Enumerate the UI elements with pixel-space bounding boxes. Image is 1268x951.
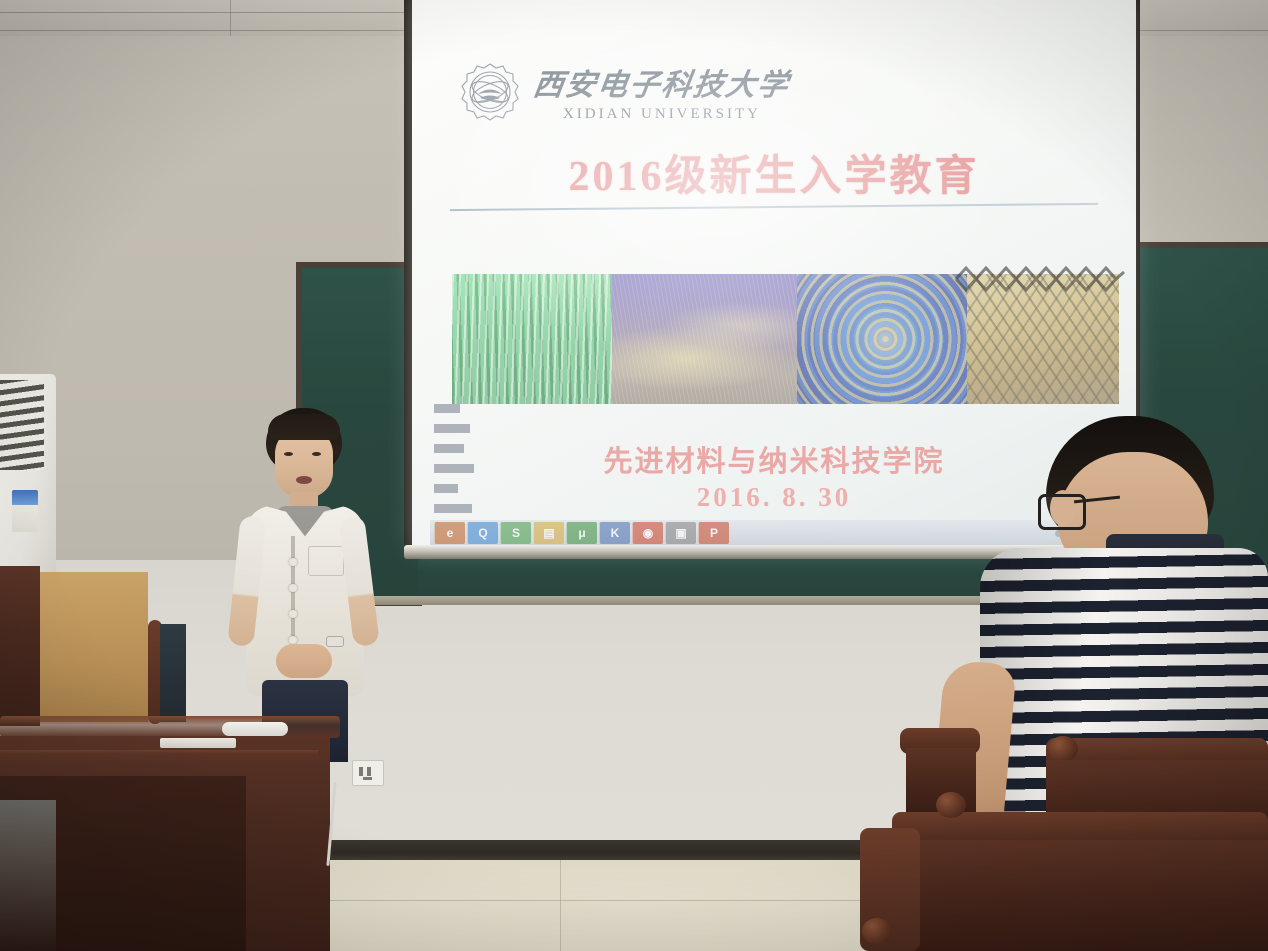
ac-vent-grille bbox=[0, 380, 44, 470]
bench-finial bbox=[936, 792, 966, 818]
slide-header: 西安电子科技大学 XIDIAN UNIVERSITY bbox=[460, 60, 790, 123]
presenter-pocket bbox=[308, 546, 344, 576]
classroom-photo: 西安电子科技大学 XIDIAN UNIVERSITY 2016级新生入学教育 bbox=[0, 0, 1268, 951]
powerpoint-icon[interactable]: P bbox=[698, 522, 729, 544]
bench-finial bbox=[1048, 736, 1078, 762]
xidian-university-crest-icon bbox=[460, 61, 520, 123]
green-app-icon[interactable]: S bbox=[500, 522, 531, 544]
title-underline-rule bbox=[450, 203, 1098, 211]
science-image-strip bbox=[430, 274, 1120, 404]
desk-side bbox=[0, 800, 56, 951]
presenter-fringe bbox=[268, 414, 340, 440]
spiral-diffraction-image bbox=[797, 274, 967, 404]
ceiling-grid-line bbox=[230, 0, 231, 40]
presenter-button bbox=[289, 558, 297, 566]
file-manager-icon[interactable]: ▣ bbox=[665, 522, 696, 544]
bench-seat-front bbox=[896, 840, 1268, 951]
kingsoft-icon[interactable]: K bbox=[599, 522, 630, 544]
presenter-button bbox=[289, 584, 297, 592]
bench-finial bbox=[862, 918, 892, 944]
browser-icon[interactable]: e bbox=[434, 522, 465, 544]
university-name-cn: 西安电子科技大学 bbox=[531, 60, 793, 104]
phone[interactable] bbox=[160, 738, 236, 748]
presenter-button bbox=[289, 610, 297, 618]
university-name-en: XIDIAN UNIVERSITY bbox=[563, 106, 761, 123]
podium-side bbox=[0, 566, 40, 726]
floor-tile-seam bbox=[560, 860, 561, 951]
presenter bbox=[228, 408, 378, 758]
utorrent-icon[interactable]: μ bbox=[566, 522, 597, 544]
presenter-eye bbox=[312, 452, 321, 456]
graphene-wave-image bbox=[612, 274, 797, 404]
remote-control[interactable] bbox=[222, 722, 288, 736]
polymer-chain-image bbox=[954, 262, 1126, 296]
presenter-eye bbox=[284, 452, 293, 456]
presenter-button bbox=[289, 636, 297, 644]
nanorod-array-image bbox=[452, 274, 612, 404]
university-name-block: 西安电子科技大学 XIDIAN UNIVERSITY bbox=[534, 60, 790, 123]
chair-back-panel bbox=[160, 624, 186, 722]
desk-edge bbox=[0, 750, 318, 760]
ceiling-grid-line bbox=[0, 12, 430, 13]
presenter-mouth bbox=[296, 476, 312, 484]
presenter-wristwatch bbox=[326, 636, 344, 647]
qq-browser-icon[interactable]: Q bbox=[467, 522, 498, 544]
presenter-clasped-hands bbox=[276, 644, 332, 678]
folder-icon[interactable]: ▤ bbox=[533, 522, 564, 544]
wall-power-outlet[interactable] bbox=[352, 760, 384, 786]
ac-energy-label bbox=[12, 490, 38, 532]
desk-top bbox=[0, 716, 340, 738]
podium-panel bbox=[36, 572, 148, 722]
chrome-icon[interactable]: ◉ bbox=[632, 522, 663, 544]
slide-title: 2016级新生入学教育 bbox=[412, 142, 1136, 203]
